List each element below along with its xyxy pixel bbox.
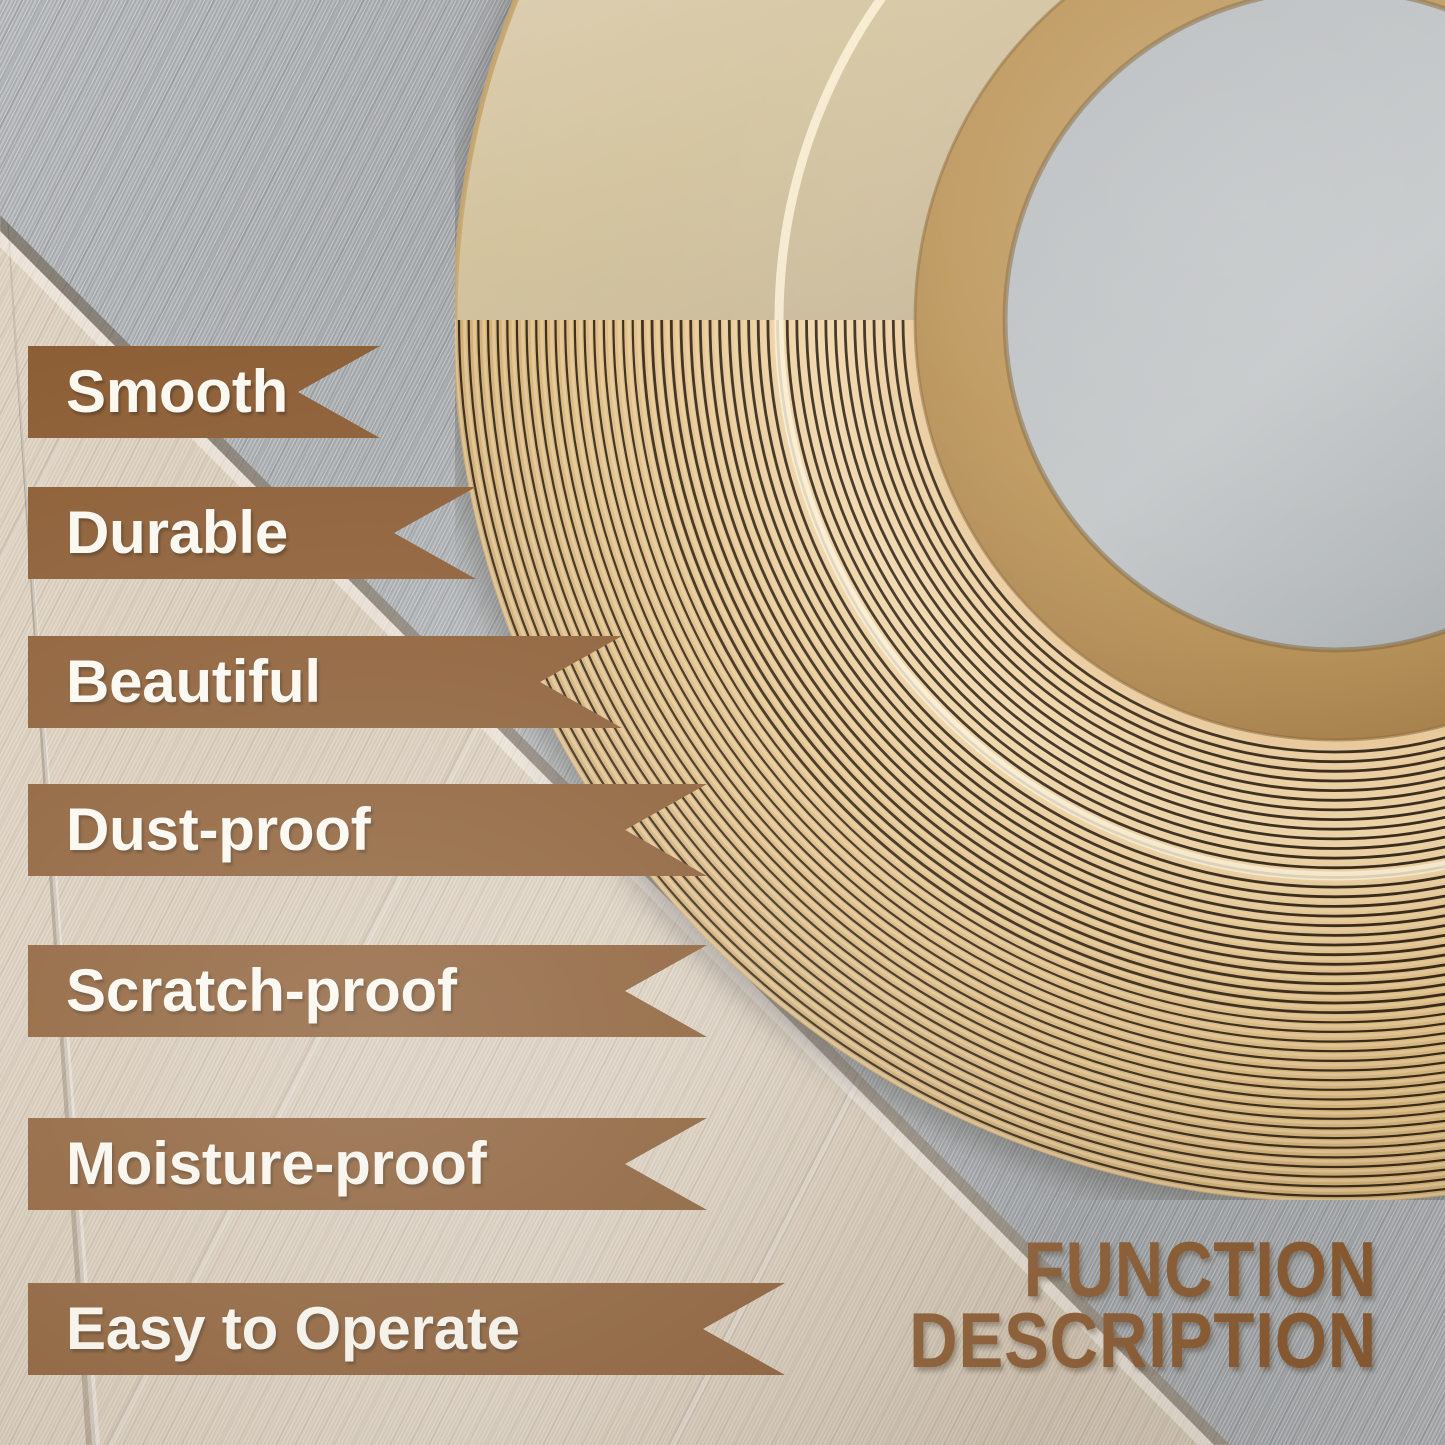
feature-banner-easy-to-operate[interactable]: Easy to Operate	[28, 1283, 785, 1375]
heading-line-description: DESCRIPTION	[909, 1305, 1377, 1377]
feature-label-beautiful: Beautiful	[66, 652, 321, 712]
feature-label-dust-proof: Dust-proof	[66, 800, 371, 860]
feature-label-smooth: Smooth	[66, 362, 288, 422]
feature-label-moisture-proof: Moisture-proof	[66, 1134, 486, 1194]
feature-banner-durable[interactable]: Durable	[28, 487, 476, 579]
feature-banner-smooth[interactable]: Smooth	[28, 346, 380, 438]
feature-label-durable: Durable	[66, 503, 288, 563]
feature-label-scratch-proof: Scratch-proof	[66, 961, 457, 1021]
feature-banner-beautiful[interactable]: Beautiful	[28, 636, 622, 728]
function-description-heading: FUNCTION DESCRIPTION	[909, 1234, 1377, 1378]
feature-banner-moisture-proof[interactable]: Moisture-proof	[28, 1118, 707, 1210]
feature-banner-dust-proof[interactable]: Dust-proof	[28, 784, 707, 876]
feature-banner-scratch-proof[interactable]: Scratch-proof	[28, 945, 707, 1037]
heading-line-function: FUNCTION	[909, 1234, 1377, 1306]
feature-label-easy-to-operate: Easy to Operate	[66, 1299, 520, 1359]
product-marketing-image: Smooth Durable Beautiful Dust-proof Scra…	[0, 0, 1445, 1445]
